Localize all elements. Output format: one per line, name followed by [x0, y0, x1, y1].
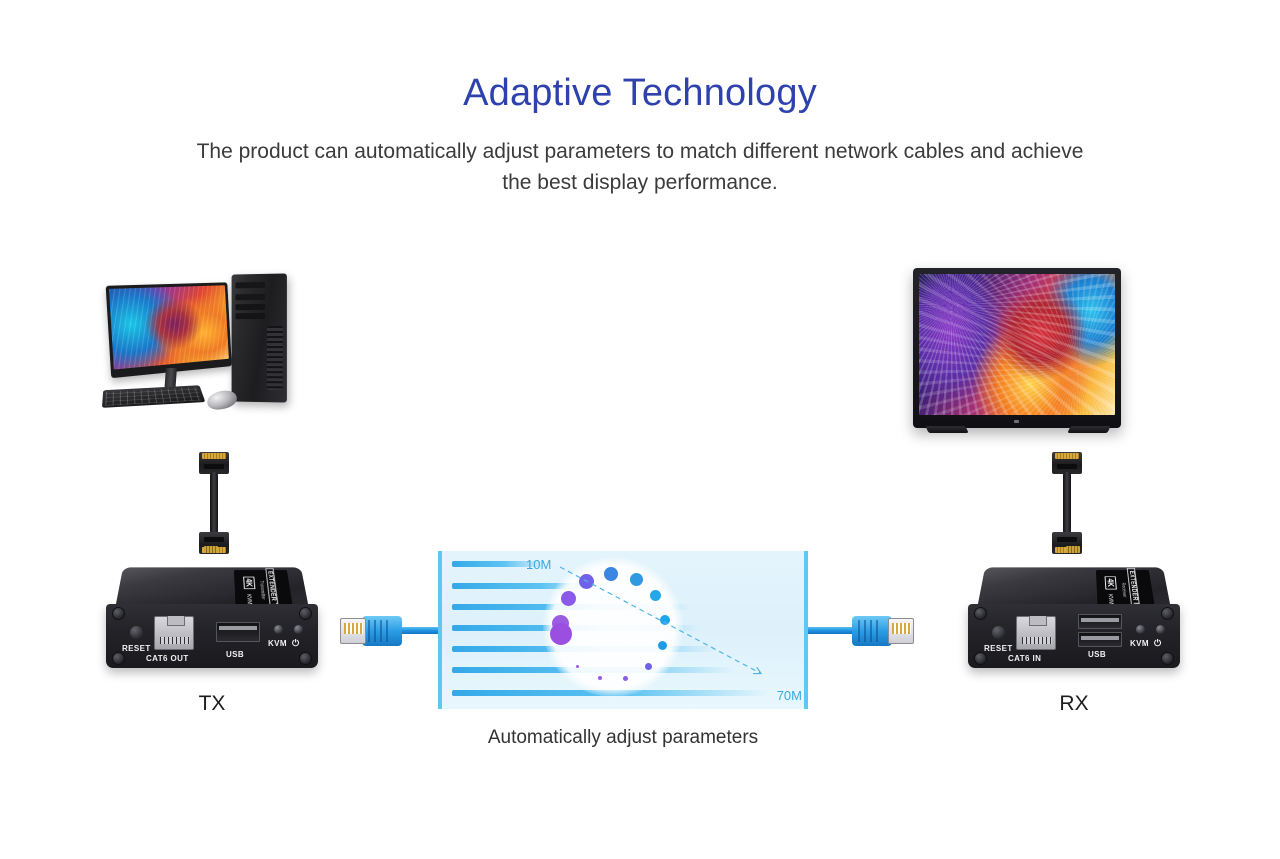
chart-label-10m: 10M [526, 557, 551, 572]
hdmi-cable-right [1052, 452, 1082, 554]
rj45-connector-left [340, 616, 402, 646]
chart-dot [658, 641, 667, 650]
pc-tower-icon [232, 273, 287, 402]
chart-dot [645, 663, 652, 670]
rx-usb-port-upper[interactable] [1078, 614, 1122, 629]
rx-power-led-icon [1156, 625, 1165, 634]
screw-icon [299, 607, 312, 620]
tx-usb-port[interactable] [216, 622, 260, 642]
rx-kvm-label: KVM [1130, 639, 1149, 648]
chart-dot [561, 591, 576, 606]
screw-icon [974, 607, 987, 620]
rx-hdmi-output-connector [1066, 546, 1080, 553]
rx-usb-port-lower[interactable] [1078, 632, 1122, 647]
tx-hdmi-input-connector [204, 546, 218, 553]
tx-kvm-led-icon [274, 625, 283, 634]
rx-usb-label: USB [1088, 650, 1106, 659]
television-illustration [913, 268, 1123, 448]
screw-icon [1161, 652, 1174, 665]
rx-cat6-in-port[interactable] [1016, 616, 1056, 650]
tv-screen [919, 274, 1115, 415]
screw-icon [299, 652, 312, 665]
pc-screen [109, 285, 229, 369]
tx-usb-label: USB [226, 650, 244, 659]
hdmi-wire [1063, 472, 1071, 534]
hdmi-cable-left [199, 452, 229, 554]
pc-monitor-icon [106, 282, 232, 378]
rx-caption: RX [962, 692, 1186, 716]
tx-kvm-label: KVM [268, 639, 287, 648]
chart-caption: Automatically adjust parameters [438, 727, 808, 749]
chart-left-accent-bar [438, 551, 442, 709]
page-subtitle: The product can automatically adjust par… [190, 136, 1090, 198]
rj45-head [340, 618, 366, 644]
adaptive-chart-panel: 10M 70M [438, 551, 808, 709]
tv-foot-right [1067, 426, 1110, 433]
screw-icon [112, 607, 125, 620]
chart-label-70m: 70M [777, 688, 802, 703]
desktop-computer-illustration [103, 272, 303, 432]
screw-icon [1161, 607, 1174, 620]
tx-reset-button[interactable] [130, 626, 143, 639]
rx-kvm-badge: KVM [1107, 594, 1114, 604]
page-title: Adaptive Technology [0, 72, 1280, 115]
tx-4k-badge: 4K [243, 576, 255, 589]
rx-extender-device: EXTENDER RX Receiver 4K KVM RESET CA [962, 552, 1186, 688]
rx-4k-badge: 4K [1105, 576, 1117, 589]
chart-right-accent-bar [804, 551, 808, 709]
hdmi-plug-top [1052, 452, 1082, 474]
tx-caption: TX [100, 692, 324, 716]
chart-dot [630, 573, 643, 586]
rx-kvm-led-icon [1136, 625, 1145, 634]
tx-kvm-badge: KVM [245, 594, 252, 604]
tx-reset-label: RESET [122, 644, 151, 653]
tv-bezel [913, 268, 1121, 428]
tx-extender-device: EXTENDER TX Transmitter 4K KVM RESET CAT… [100, 552, 324, 688]
ethernet-cable-right-run [806, 627, 854, 634]
tx-cat6-out-port[interactable] [154, 616, 194, 650]
rx-reset-label: RESET [984, 644, 1013, 653]
power-icon: ⏻ [292, 638, 300, 649]
rj45-boot [362, 616, 402, 646]
tx-power-led-icon [294, 625, 303, 634]
power-icon: ⏻ [1154, 638, 1162, 649]
hdmi-wire [210, 472, 218, 534]
keyboard-icon [102, 385, 205, 408]
tx-cat6-label: CAT6 OUT [146, 654, 189, 663]
chart-dot-accent [550, 623, 572, 645]
chart-dot [579, 574, 594, 589]
rx-cat6-label: CAT6 IN [1008, 654, 1041, 663]
tv-power-led-icon [1014, 420, 1019, 423]
screw-icon [112, 652, 125, 665]
tx-front-panel: RESET CAT6 OUT USB KVM ⏻ [106, 604, 318, 668]
screw-icon [974, 652, 987, 665]
rj45-connector-right [852, 616, 914, 646]
chart-dot [576, 665, 579, 668]
tv-foot-left [925, 426, 968, 433]
hdmi-plug-top [199, 452, 229, 474]
page-root: Adaptive Technology The product can auto… [0, 0, 1280, 859]
rj45-boot [852, 616, 892, 646]
rj45-head [888, 618, 914, 644]
rx-reset-button[interactable] [992, 626, 1005, 639]
rx-front-panel: RESET CAT6 IN USB KVM ⏻ [968, 604, 1180, 668]
